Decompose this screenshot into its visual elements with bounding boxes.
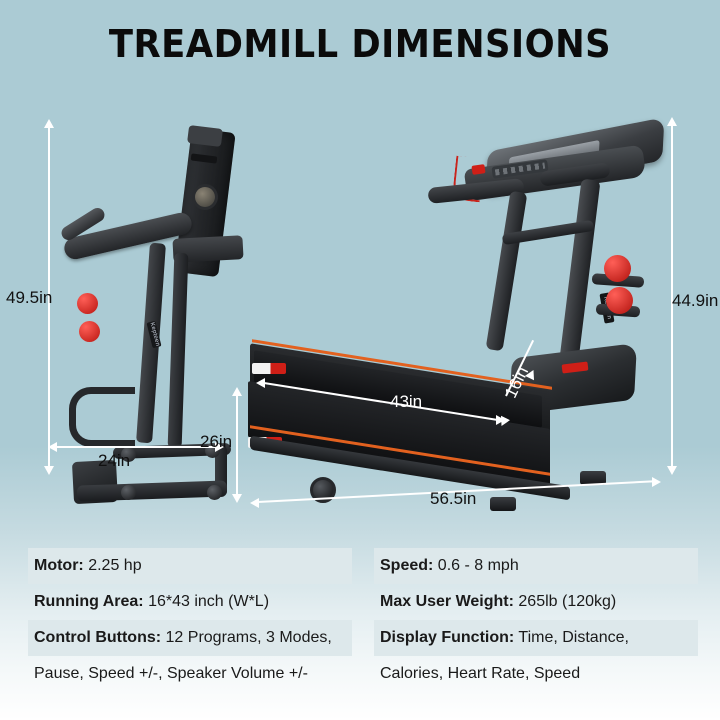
spec-value-running-area: 16*43 inch (W*L) [144, 593, 269, 610]
treadmill-dimensions-poster: TREADMILL DIMENSIONS Kepteen [0, 0, 720, 720]
open-length-label: 56.5in [430, 489, 476, 509]
treadmill-open-view: Kepteen [240, 105, 680, 525]
dumbbell-open-lower [606, 287, 633, 314]
folded-height-label: 49.5in [6, 288, 52, 308]
open-length-arrow-right [652, 477, 661, 487]
spec-row-speed: Speed: 0.6 - 8 mph [374, 548, 698, 584]
spec-value-motor: 2.25 hp [84, 557, 142, 574]
spec-row-running-area: Running Area: 16*43 inch (W*L) [28, 584, 352, 620]
folded-width-label: 24in [98, 451, 130, 471]
folded-height-arrow-top [44, 119, 54, 128]
folded-depth-line [236, 395, 238, 495]
spec-value-speed: 0.6 - 8 mph [433, 557, 518, 574]
belt-length-arrow-left [256, 378, 265, 388]
spec-value-control-buttons: 12 Programs, 3 Modes, [161, 629, 332, 646]
deck-endcap-top [252, 363, 286, 374]
transport-wheel-3 [207, 485, 222, 500]
spec-row-motor: Motor: 2.25 hp [28, 548, 352, 584]
spec-value-max-user-weight: 265lb (120kg) [514, 593, 616, 610]
spec-label-max-user-weight: Max User Weight: [380, 593, 514, 610]
spec-value-display-function-cont: Calories, Heart Rate, Speed [380, 665, 580, 682]
folded-depth-arrow-top [232, 387, 242, 396]
spec-label-motor: Motor: [34, 557, 84, 574]
spec-row-display-function: Display Function: Time, Distance, [374, 620, 698, 656]
folded-height-arrow-bottom [44, 466, 54, 475]
treadmill-folded-view: Kepteen [55, 125, 255, 515]
spec-label-control-buttons: Control Buttons: [34, 629, 161, 646]
upright-left [486, 191, 528, 352]
dumbbell-folded-lower [79, 321, 100, 342]
folded-width-line [56, 446, 216, 448]
folded-width-arrow-left [48, 442, 57, 452]
spec-label-running-area: Running Area: [34, 593, 144, 610]
spec-row-control-buttons: Control Buttons: 12 Programs, 3 Modes, [28, 620, 352, 656]
spec-value-display-function: Time, Distance, [514, 629, 629, 646]
open-height-label: 44.9in [672, 291, 718, 311]
folded-upright-right [168, 253, 189, 448]
product-illustration-stage: Kepteen Kepteen [0, 95, 720, 545]
folded-side-rail [69, 387, 135, 447]
folded-depth-arrow-bottom [232, 494, 242, 503]
base-foot-front [490, 497, 516, 511]
page-title: TREADMILL DIMENSIONS [25, 22, 695, 66]
specifications-section: Motor: 2.25 hp Running Area: 16*43 inch … [0, 548, 720, 720]
spec-column-left: Motor: 2.25 hp Running Area: 16*43 inch … [28, 548, 352, 692]
folded-depth-label: 26in [200, 432, 232, 452]
spec-label-speed: Speed: [380, 557, 433, 574]
open-height-arrow-bottom [667, 466, 677, 475]
open-height-arrow-top [667, 117, 677, 126]
spec-row-max-user-weight: Max User Weight: 265lb (120kg) [374, 584, 698, 620]
transport-wheel-4 [121, 485, 136, 500]
belt-length-label: 43in [390, 392, 422, 412]
dumbbell-open-upper [604, 255, 631, 282]
spec-column-right: Speed: 0.6 - 8 mph Max User Weight: 265l… [374, 548, 698, 692]
spec-label-display-function: Display Function: [380, 629, 514, 646]
open-length-arrow-left [250, 498, 259, 508]
dumbbell-folded-upper [77, 293, 98, 314]
spec-row-display-function-cont: Calories, Heart Rate, Speed [374, 656, 698, 692]
spec-value-control-buttons-cont: Pause, Speed +/-, Speaker Volume +/- [34, 665, 308, 682]
spec-row-control-buttons-cont: Pause, Speed +/-, Speaker Volume +/- [28, 656, 352, 692]
